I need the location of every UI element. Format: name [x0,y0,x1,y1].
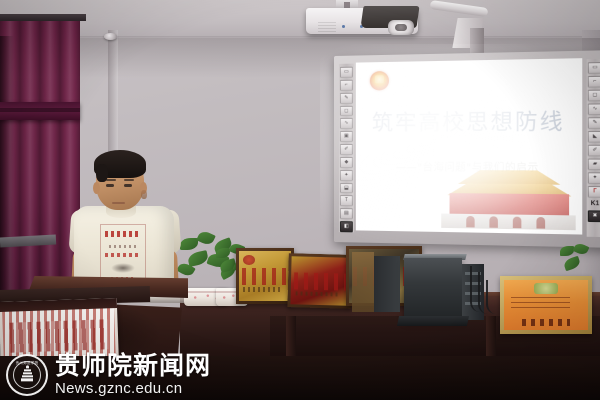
monitor-rear [374,256,400,312]
tiananmen-upper-roof [458,169,560,185]
desktop-computer-tower[interactable] [404,258,462,320]
certificate-orange [500,276,592,334]
whiteboard-surface[interactable]: 筑牢高校思想防线 ——"台海问题"与我们的启示 [356,58,582,234]
tool-icon[interactable]: ✎ [340,92,353,103]
tool-icon[interactable]: ⌐ [340,80,353,91]
hair [94,150,146,178]
gznc-news-logo-icon: 贵州师范学院 [6,354,48,396]
whiteboard-tool-strip-left[interactable]: ▭ ⌐ ✎ ◻ ∿ ▣ ✐ ◆ ✦ ⬓ T ▤ ◧ [339,64,354,233]
china-national-emblem-icon [370,71,389,90]
tool-icon[interactable]: ▰ [588,159,600,171]
tool-icon[interactable]: ▭ [588,62,600,74]
tool-icon[interactable]: T [340,195,353,206]
certificate-body-text [511,297,570,310]
tool-icon[interactable]: ✐ [588,145,600,157]
watermark: 贵州师范学院 贵师院新闻网 News.gznc.edu.cn [6,353,211,396]
certificate-award-title [522,319,569,326]
presentation-slide: 筑牢高校思想防线 ——"台海问题"与我们的启示 [356,58,582,234]
logo-arc-text: 贵州师范学院 [8,360,46,365]
tool-icon[interactable]: ◣ [588,131,600,143]
curtain-rod [0,14,86,21]
tiananmen-gate-illustration [439,164,578,234]
ceiling-projector [300,0,450,44]
tool-icon[interactable]: ∿ [340,118,353,129]
photograph: 筑牢高校思想防线 ——"台海问题"与我们的启示 [0,0,600,400]
tool-icon[interactable]: ▭ [340,67,353,78]
site-url: News.gznc.edu.cn [55,381,211,396]
projector-lens [388,20,414,35]
tool-icon[interactable]: ∿ [588,103,600,115]
curtain-valance [0,102,80,120]
cable [486,280,506,314]
projector-indicator [342,25,345,28]
tool-icon[interactable]: ⌐ [588,76,600,88]
smoke-detector-icon [104,33,117,40]
tool-icon[interactable]: ◻ [588,90,600,102]
tool-icon[interactable]: ⬓ [340,183,353,194]
whiteboard-tool-strip-right[interactable]: ▭ ⌐ ◻ ∿ ✎ ◣ ✐ ▰ ✦ Γ K1 ✖ [587,59,600,237]
curtain-shadow [0,36,14,328]
purple-window-curtain [0,18,80,310]
interactive-whiteboard[interactable]: 筑牢高校思想防线 ——"台海问题"与我们的启示 [334,50,600,248]
tool-icon[interactable]: ◆ [340,157,353,168]
tiananmen-base [441,214,575,231]
tool-icon[interactable]: ◻ [340,105,353,116]
ceiling-duct-shadow [470,28,484,54]
tool-icon[interactable]: ▤ [340,208,353,219]
tool-icon[interactable]: Γ [588,186,600,198]
slide-title: 筑牢高校思想防线 [356,105,582,137]
whiteboard-label-k1: K1 [589,200,600,209]
tool-icon[interactable]: ✦ [340,170,353,181]
projector-vent [318,22,336,32]
tool-icon[interactable]: ✦ [588,172,600,184]
pagoda-icon [21,365,33,382]
keyboard[interactable] [397,316,469,326]
tool-icon[interactable]: ✐ [340,144,353,155]
watermark-text: 贵师院新闻网 News.gznc.edu.cn [55,353,211,396]
tool-icon[interactable]: ◧ [340,221,353,232]
certificate-crest-icon [534,283,558,294]
tool-icon[interactable]: ▣ [340,131,353,142]
close-icon[interactable]: ✖ [588,210,600,222]
tool-icon[interactable]: ✎ [588,117,600,129]
plaque-gold-left [236,248,294,304]
site-name-cn: 贵师院新闻网 [55,353,211,378]
wood-panel [352,252,374,312]
plaque-red-center [287,253,352,309]
